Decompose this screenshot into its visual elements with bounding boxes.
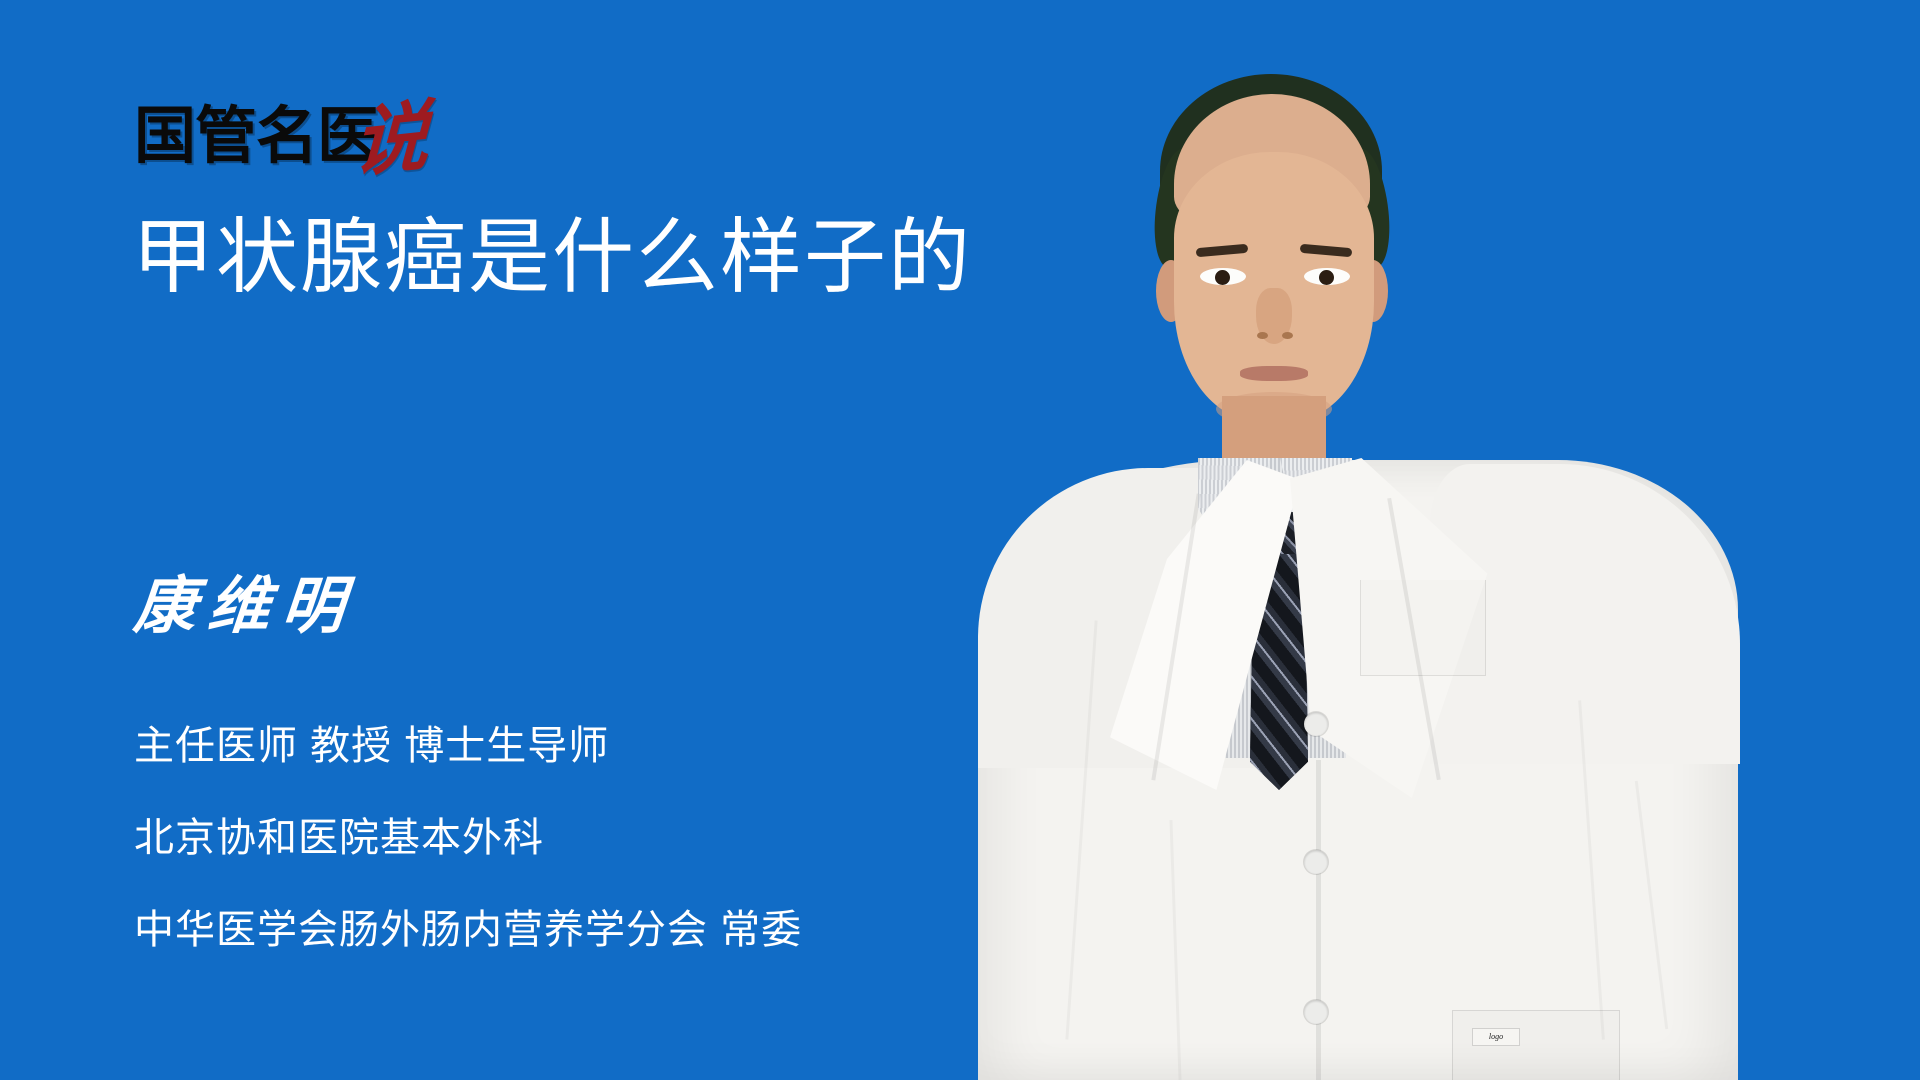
coat-pocket-brand-label: logo	[1472, 1028, 1520, 1046]
coat-button-3	[1304, 1000, 1328, 1024]
coat-chest-pocket	[1360, 580, 1486, 676]
pupil-right	[1319, 270, 1334, 285]
nostril-right	[1282, 332, 1293, 339]
program-logo-accent-character: 说	[352, 105, 430, 176]
speaker-name: 康维明	[131, 570, 359, 644]
eye-right	[1304, 268, 1350, 285]
credential-line-affiliation: 北京协和医院基本外科	[134, 792, 954, 884]
coat-placket	[1316, 760, 1321, 1080]
speaker-credentials: 主任医师 教授 博士生导师 北京协和医院基本外科 中华医学会肠外肠内营养学分会 …	[134, 700, 954, 976]
program-logo-main-text: 国管名医	[134, 106, 378, 168]
coat-button-2	[1304, 850, 1328, 874]
video-title-card: 国管名医 说 甲状腺癌是什么样子的 康维明 主任医师 教授 博士生导师 北京协和…	[0, 0, 1920, 1080]
credential-line-society: 中华医学会肠外肠内营养学分会 常委	[134, 884, 954, 976]
credential-line-title: 主任医师 教授 博士生导师	[134, 700, 954, 792]
speaker-portrait-photo: logo	[960, 60, 1760, 1080]
pupil-left	[1215, 270, 1230, 285]
face	[1174, 152, 1374, 422]
mouth	[1240, 366, 1308, 381]
coat-button-1	[1304, 712, 1328, 736]
program-logo: 国管名医 说	[134, 96, 428, 168]
episode-title: 甲状腺癌是什么样子的	[132, 210, 972, 306]
eye-left	[1200, 268, 1246, 285]
nostril-left	[1257, 332, 1268, 339]
